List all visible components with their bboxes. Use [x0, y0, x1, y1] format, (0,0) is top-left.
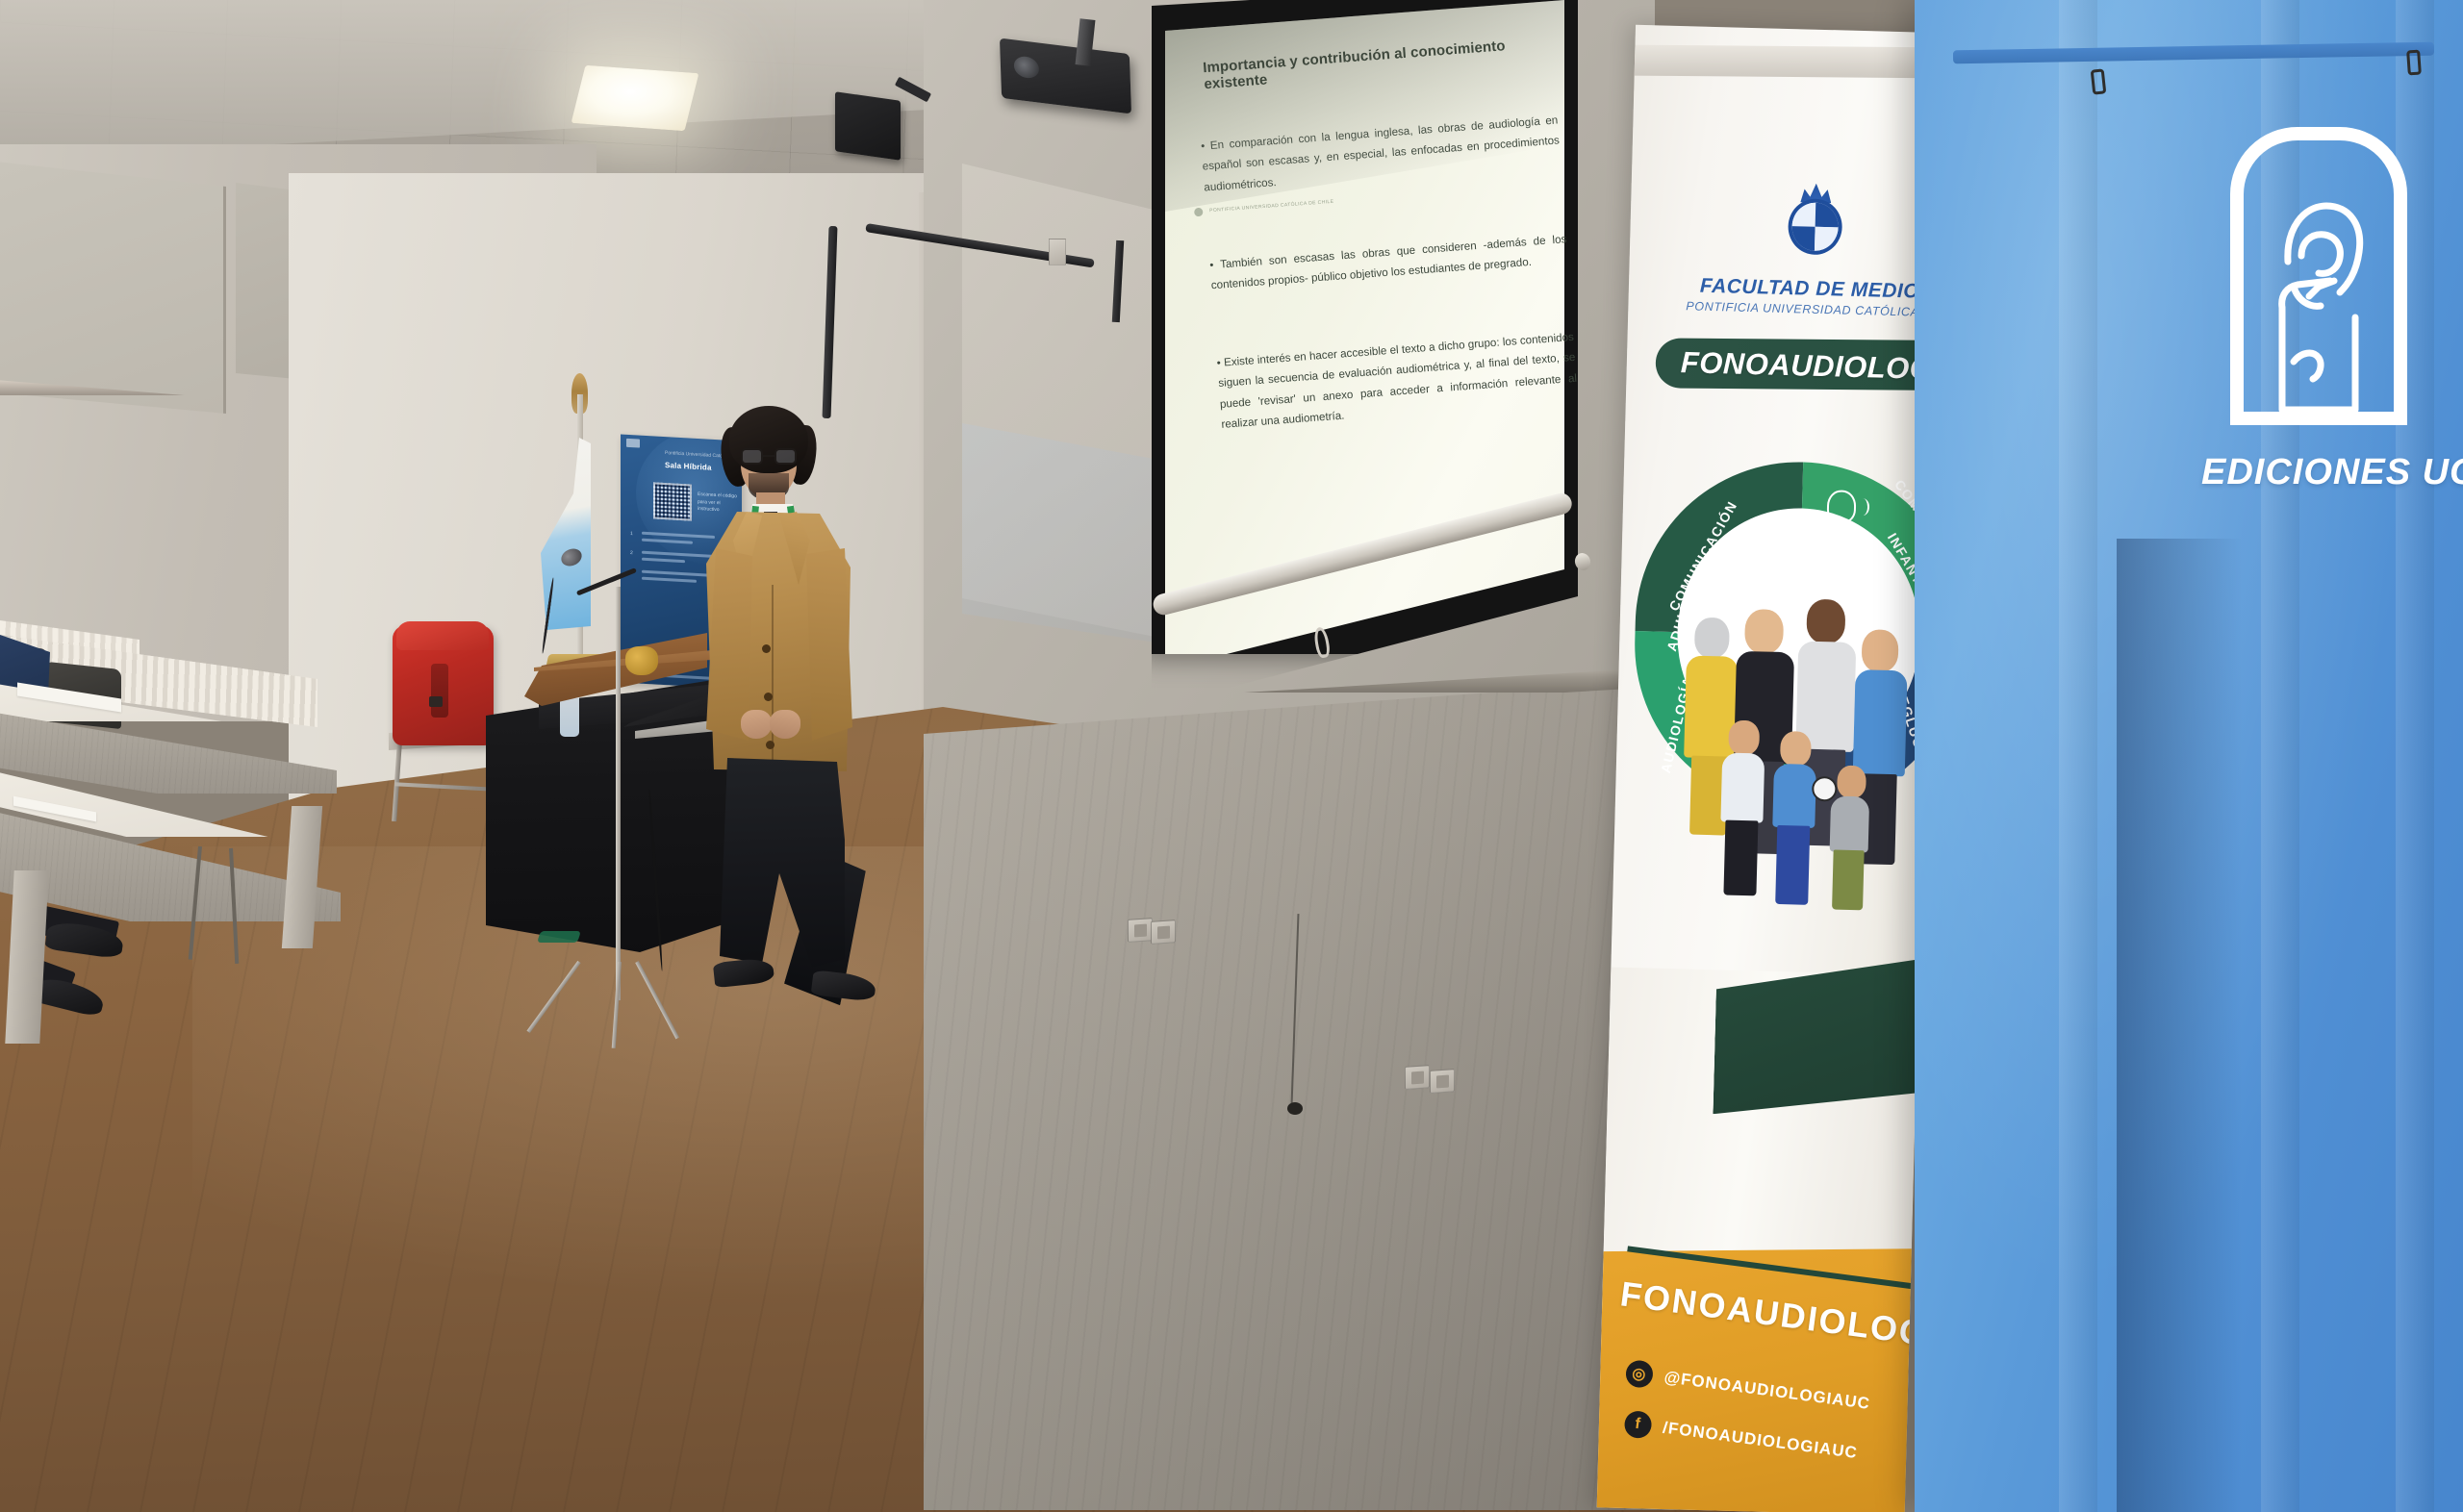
slide-bullet-2: • También son escasas las obras que cons… [1209, 229, 1569, 296]
figure-head [1744, 609, 1784, 654]
wall-speaker [835, 91, 901, 161]
facebook-icon: f [1623, 1409, 1653, 1439]
backpack-buckle [429, 696, 443, 707]
coat-button-2 [764, 693, 773, 701]
figure-head [1780, 731, 1812, 767]
ediciones-uc-caption: EDICIONES UC [2201, 452, 2463, 493]
head-speech-icon [1827, 490, 1857, 523]
crest-quadrant-4 [1815, 227, 1839, 252]
slide-bullet-3: • Existe interés en hacer accesible el t… [1216, 327, 1579, 436]
projector-wall-reflection [962, 423, 1169, 644]
reader-figure-icon [2230, 127, 2407, 425]
figure-legs [1832, 849, 1865, 910]
figure-body [1772, 764, 1816, 828]
floor-object-green [537, 931, 581, 943]
illustrated-people-group [1674, 590, 1910, 913]
figure-body [1720, 752, 1765, 822]
lecture-hall-photo: PONTIFICIA UNIVERSIDAD CATÓLICA DE CHILE… [0, 0, 2463, 1512]
glasses-bridge [763, 455, 774, 457]
decorative-object [625, 646, 658, 675]
figure-head [1694, 617, 1730, 659]
presenter [673, 404, 895, 1000]
coat-button-3 [766, 741, 774, 749]
flag-clip-left[interactable] [2091, 68, 2107, 94]
slide-logo-text: PONTIFICIA UNIVERSIDAD CATÓLICA DE CHILE [1209, 199, 1334, 214]
flag-fold-1 [2059, 0, 2097, 1512]
uc-crest-icon [1782, 183, 1849, 260]
logo-reader-figure [2259, 173, 2378, 414]
glasses-lens-right [774, 448, 797, 465]
slide-logo-icon [1194, 208, 1204, 217]
figure-head [1728, 720, 1760, 756]
figure-head [1837, 766, 1866, 799]
figure-legs [1775, 825, 1810, 905]
wall-switch-plate[interactable] [1049, 239, 1066, 265]
chair-rail [394, 782, 495, 791]
wall-outlet-3 [1405, 1065, 1430, 1090]
presenter-arm-right [806, 548, 852, 741]
microphone-stand-pole [616, 587, 621, 1000]
wall-outlet-2 [1151, 920, 1176, 945]
figure-legs [1723, 820, 1758, 896]
presentation-slide: PONTIFICIA UNIVERSIDAD CATÓLICA DE CHILE… [1165, 0, 1617, 671]
presenter-shoe-front [713, 957, 774, 988]
presenter-glasses [741, 448, 797, 465]
presenter-hand-left [741, 710, 772, 739]
backpack-strap [431, 664, 448, 718]
flag-clip-right[interactable] [2406, 50, 2422, 76]
presenter-hand-right [770, 710, 800, 739]
whiteboard-panel-left [0, 162, 226, 414]
coat-button-1 [762, 644, 771, 653]
crest-shield [1788, 198, 1842, 255]
ceiling-light-fixture [571, 65, 699, 131]
fonoaudiologia-banner: FACULTAD DE MEDICINA PONTIFICIA UNIVERSI… [1597, 25, 1943, 1512]
presenter-coat-seam [772, 585, 774, 766]
crest-quadrant-3 [1791, 226, 1816, 251]
figure-body [1853, 669, 1908, 776]
poster-step-number: 2 [630, 550, 637, 556]
banner-top-rail [1623, 44, 1943, 78]
instagram-icon: ◎ [1624, 1359, 1654, 1389]
cable-weight [1287, 1102, 1303, 1115]
projector-screen: PONTIFICIA UNIVERSIDAD CATÓLICA DE CHILE… [1140, 0, 1583, 712]
slide-title: Importancia y contribución al conocimien… [1203, 36, 1550, 92]
figure-body [1830, 795, 1870, 852]
projector-lens [1014, 55, 1040, 79]
presenter-trousers [720, 758, 845, 979]
poster-step-number: 1 [630, 531, 637, 537]
crest-quadrant-1 [1792, 202, 1816, 227]
wall-outlet-1 [1128, 918, 1153, 943]
poster-uc-logo [626, 439, 640, 448]
flag-shadow [2117, 539, 2242, 1512]
backpack-flap [396, 621, 489, 650]
wall-outlet-4 [1430, 1069, 1455, 1094]
figure-head [1806, 599, 1845, 644]
crest-quadrant-2 [1816, 203, 1840, 228]
glasses-lens-left [741, 448, 763, 465]
figure-head [1862, 629, 1899, 672]
slide-bullet-1: • En comparación con la lengua inglesa, … [1200, 110, 1562, 197]
